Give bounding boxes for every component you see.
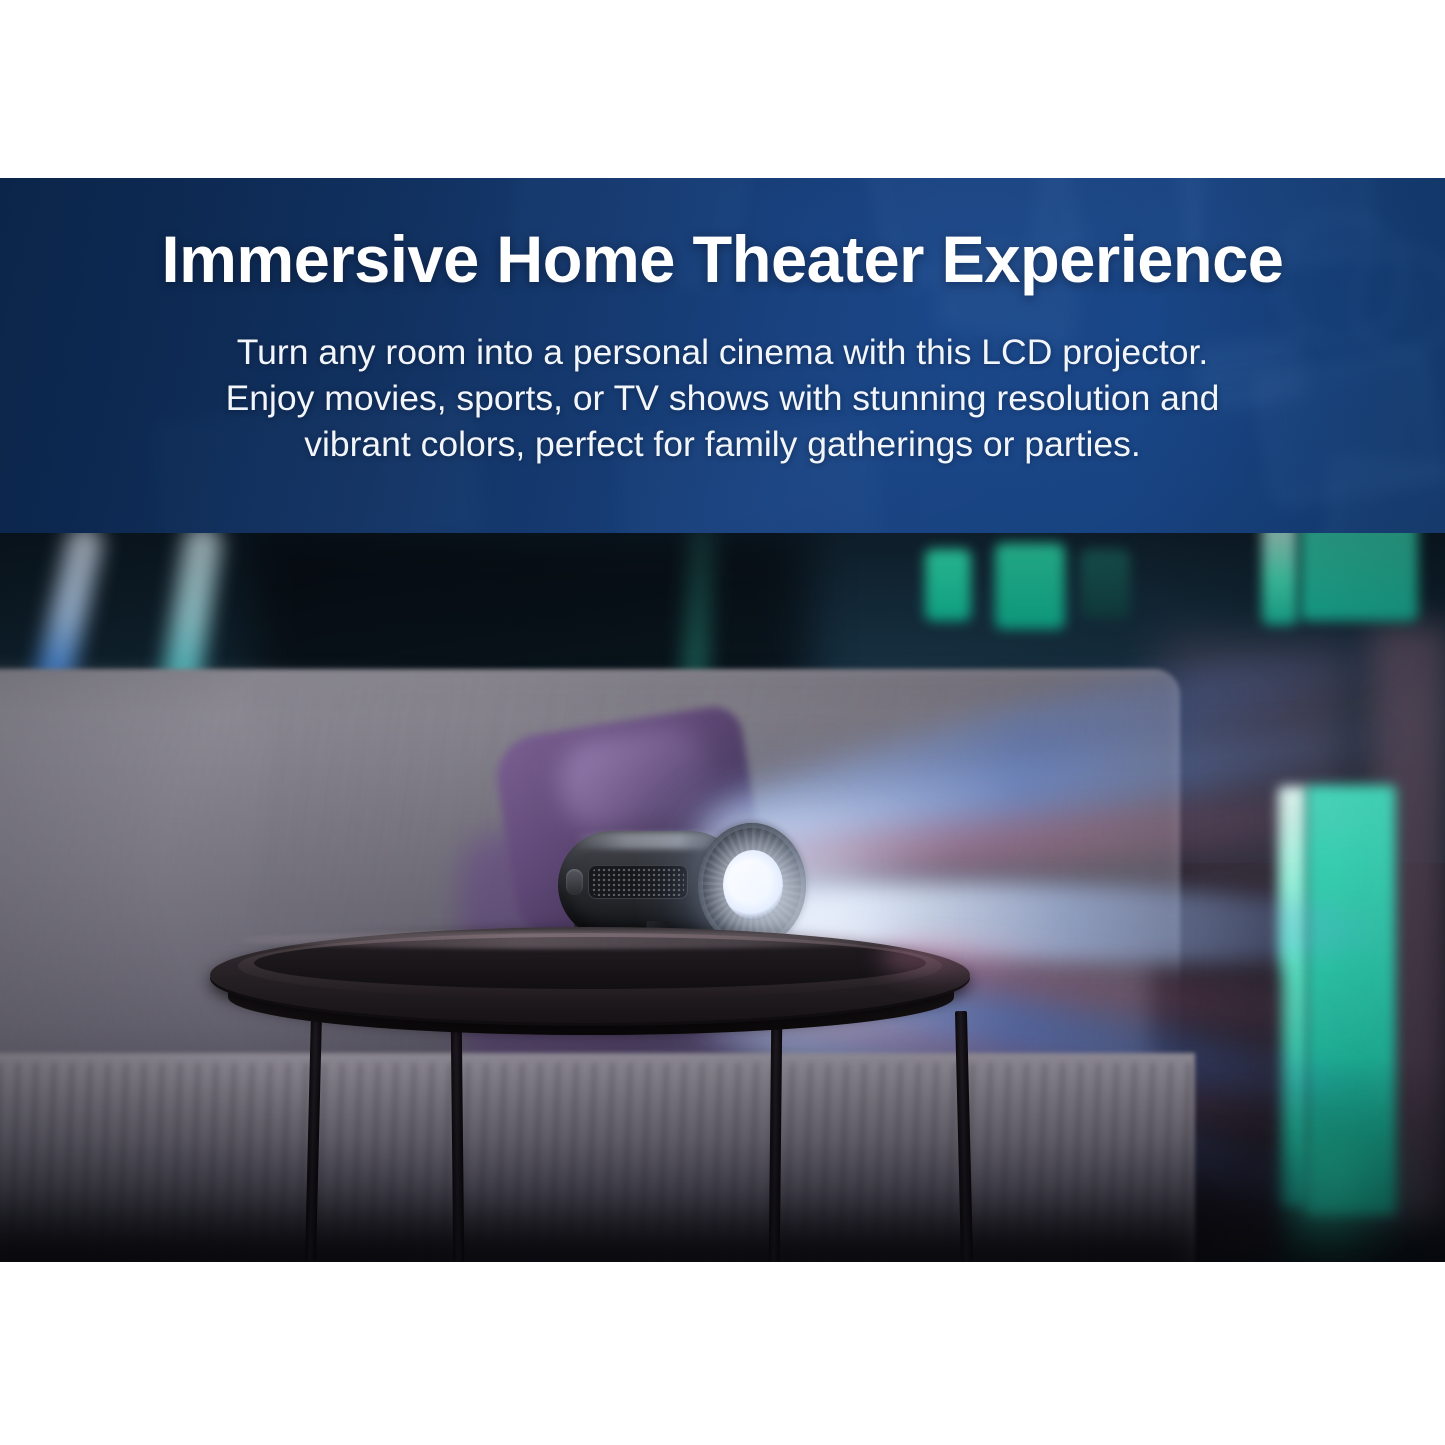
table-edge-glow <box>880 937 1040 977</box>
page-title: Immersive Home Theater Experience <box>11 226 1434 292</box>
teal-accent-light <box>925 549 971 621</box>
projector-speaker-grille-mesh <box>592 868 684 896</box>
teal-accent-light <box>1300 533 1418 621</box>
projector-top-highlight <box>574 833 724 849</box>
projector-side-button[interactable] <box>566 869 583 895</box>
table-rim-highlight <box>240 931 940 949</box>
banner-subtitle-line-2: Enjoy movies, sports, or TV shows with s… <box>0 381 1445 417</box>
teal-accent-light <box>995 543 1065 629</box>
sofa-floor-shadow <box>0 1193 1195 1262</box>
teal-accent-light <box>1080 549 1130 619</box>
hero-banner: Emerson Immersive Home Theater Experienc… <box>0 178 1445 533</box>
banner-subtitle-line-1: Turn any room into a personal cinema wit… <box>0 335 1445 371</box>
product-lifestyle-photo <box>0 533 1445 1262</box>
banner-text-block: Immersive Home Theater Experience Turn a… <box>0 178 1445 533</box>
product-feature-page: Emerson Immersive Home Theater Experienc… <box>0 0 1445 1445</box>
teal-accent-light <box>1262 533 1298 625</box>
banner-subtitle-line-3: vibrant colors, perfect for family gathe… <box>0 427 1445 463</box>
